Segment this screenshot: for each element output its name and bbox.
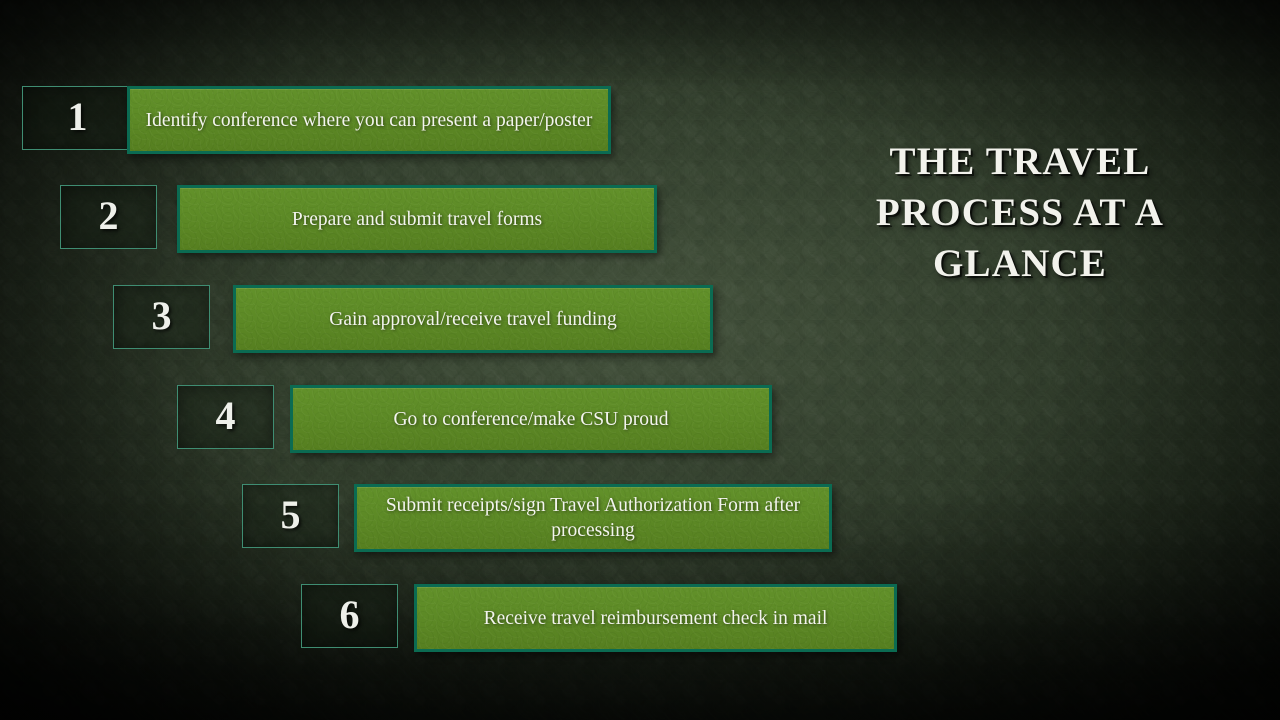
process-step-row: 2Prepare and submit travel forms bbox=[0, 185, 1280, 253]
process-step-row: 1Identify conference where you can prese… bbox=[0, 86, 1280, 154]
step-bar-label: Gain approval/receive travel funding bbox=[329, 307, 617, 332]
step-bar-label: Receive travel reimbursement check in ma… bbox=[484, 606, 828, 631]
step-bar-2: Prepare and submit travel forms bbox=[177, 185, 657, 253]
step-bar-6: Receive travel reimbursement check in ma… bbox=[414, 584, 897, 652]
step-number-box-5: 5 bbox=[242, 484, 339, 548]
step-number-label: 5 bbox=[281, 495, 301, 537]
process-step-row: 4Go to conference/make CSU proud bbox=[0, 385, 1280, 453]
slide-canvas: The Travel Process at a Glance 1Identify… bbox=[0, 0, 1280, 720]
step-number-label: 1 bbox=[68, 97, 88, 139]
step-bar-4: Go to conference/make CSU proud bbox=[290, 385, 772, 453]
process-step-row: 5Submit receipts/sign Travel Authorizati… bbox=[0, 484, 1280, 552]
process-step-list: 1Identify conference where you can prese… bbox=[0, 0, 1280, 720]
step-number-box-3: 3 bbox=[113, 285, 210, 349]
step-bar-1: Identify conference where you can presen… bbox=[127, 86, 611, 154]
step-bar-label: Submit receipts/sign Travel Authorizatio… bbox=[367, 493, 819, 543]
step-number-label: 4 bbox=[216, 396, 236, 438]
step-bar-5: Submit receipts/sign Travel Authorizatio… bbox=[354, 484, 832, 552]
step-bar-label: Identify conference where you can presen… bbox=[146, 108, 593, 133]
step-bar-3: Gain approval/receive travel funding bbox=[233, 285, 713, 353]
step-number-box-4: 4 bbox=[177, 385, 274, 449]
step-bar-label: Go to conference/make CSU proud bbox=[393, 407, 668, 432]
step-number-box-1: 1 bbox=[22, 86, 133, 150]
process-step-row: 6Receive travel reimbursement check in m… bbox=[0, 584, 1280, 652]
process-step-row: 3Gain approval/receive travel funding bbox=[0, 285, 1280, 353]
step-number-box-6: 6 bbox=[301, 584, 398, 648]
step-bar-label: Prepare and submit travel forms bbox=[292, 207, 542, 232]
step-number-label: 2 bbox=[99, 196, 119, 238]
step-number-box-2: 2 bbox=[60, 185, 157, 249]
step-number-label: 3 bbox=[152, 296, 172, 338]
step-number-label: 6 bbox=[340, 595, 360, 637]
